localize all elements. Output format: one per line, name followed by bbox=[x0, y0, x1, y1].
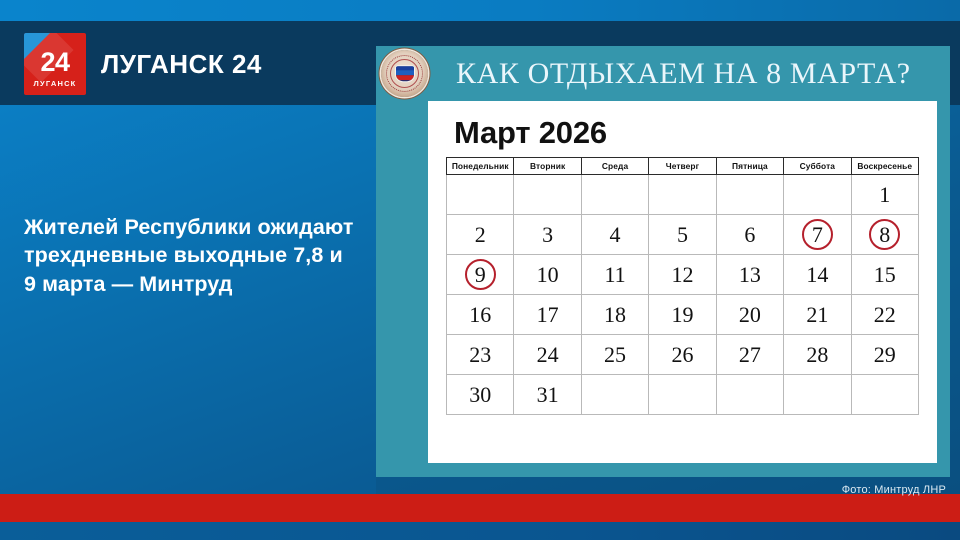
calendar-day-cell: 29 bbox=[851, 335, 918, 375]
calendar-day-cell: 5 bbox=[649, 215, 716, 255]
calendar-table: ПонедельникВторникСредаЧетвергПятницаСуб… bbox=[446, 157, 919, 415]
calendar-day-highlight: 9 bbox=[465, 259, 496, 290]
bottom-blue-strip bbox=[0, 522, 960, 540]
calendar-panel: КАК ОТДЫХАЕМ НА 8 МАРТА? Март 2026 Понед… bbox=[376, 46, 950, 477]
calendar-card: Март 2026 ПонедельникВторникСредаЧетверг… bbox=[428, 101, 937, 463]
calendar-day-cell: 9 bbox=[447, 255, 514, 295]
calendar-day-cell: 1 bbox=[851, 175, 918, 215]
calendar-day-cell: 27 bbox=[716, 335, 783, 375]
calendar-day-cell: 11 bbox=[581, 255, 648, 295]
calendar-day-highlight: 7 bbox=[802, 219, 833, 250]
calendar-week-row: 3031 bbox=[447, 375, 919, 415]
calendar-day-cell: 24 bbox=[514, 335, 581, 375]
calendar-empty-cell bbox=[784, 375, 851, 415]
emblem-flag-shield-icon bbox=[396, 66, 414, 81]
red-accent-bar bbox=[0, 494, 960, 522]
calendar-empty-cell bbox=[784, 175, 851, 215]
logo-mark-icon: 24 ЛУГАНСК bbox=[24, 33, 86, 95]
calendar-day-cell: 13 bbox=[716, 255, 783, 295]
logo-number: 24 bbox=[40, 49, 69, 76]
calendar-day-cell: 28 bbox=[784, 335, 851, 375]
calendar-empty-cell bbox=[716, 375, 783, 415]
calendar-day-cell: 12 bbox=[649, 255, 716, 295]
calendar-week-row: 23242526272829 bbox=[447, 335, 919, 375]
calendar-day-cell: 16 bbox=[447, 295, 514, 335]
calendar-month-title: Март 2026 bbox=[428, 101, 937, 157]
calendar-day-cell: 8 bbox=[851, 215, 918, 255]
calendar-empty-cell bbox=[581, 375, 648, 415]
calendar-body: 1234567891011121314151617181920212223242… bbox=[447, 175, 919, 415]
calendar-empty-cell bbox=[514, 175, 581, 215]
calendar-weekday-1: Вторник bbox=[514, 158, 581, 175]
calendar-day-cell: 25 bbox=[581, 335, 648, 375]
calendar-empty-cell bbox=[851, 375, 918, 415]
calendar-table-wrap: ПонедельникВторникСредаЧетвергПятницаСуб… bbox=[428, 157, 937, 415]
calendar-weekday-0: Понедельник bbox=[447, 158, 514, 175]
calendar-day-cell: 18 bbox=[581, 295, 648, 335]
calendar-day-cell: 26 bbox=[649, 335, 716, 375]
calendar-day-cell: 3 bbox=[514, 215, 581, 255]
lnr-ministry-emblem-icon bbox=[381, 50, 428, 97]
calendar-day-cell: 31 bbox=[514, 375, 581, 415]
calendar-day-cell: 22 bbox=[851, 295, 918, 335]
calendar-empty-cell bbox=[447, 175, 514, 215]
calendar-day-cell: 14 bbox=[784, 255, 851, 295]
calendar-weekday-6: Воскресенье bbox=[851, 158, 918, 175]
calendar-week-row: 1 bbox=[447, 175, 919, 215]
calendar-day-cell: 17 bbox=[514, 295, 581, 335]
headline-text: Жителей Республики ожидают трехдневные в… bbox=[24, 213, 354, 298]
calendar-day-cell: 15 bbox=[851, 255, 918, 295]
panel-title: КАК ОТДЫХАЕМ НА 8 МАРТА? bbox=[456, 57, 911, 91]
calendar-empty-cell bbox=[649, 375, 716, 415]
photo-credit: Фото: Минтруд ЛНР bbox=[842, 484, 946, 496]
calendar-day-cell: 30 bbox=[447, 375, 514, 415]
logo-subtext: ЛУГАНСК bbox=[34, 79, 77, 88]
calendar-week-row: 2345678 bbox=[447, 215, 919, 255]
calendar-day-highlight: 8 bbox=[869, 219, 900, 250]
calendar-weekday-header: ПонедельникВторникСредаЧетвергПятницаСуб… bbox=[447, 158, 919, 175]
calendar-weekday-2: Среда bbox=[581, 158, 648, 175]
calendar-weekday-5: Суббота bbox=[784, 158, 851, 175]
channel-name: ЛУГАНСК 24 bbox=[101, 49, 262, 80]
calendar-day-cell: 19 bbox=[649, 295, 716, 335]
calendar-day-cell: 23 bbox=[447, 335, 514, 375]
top-blue-strip bbox=[0, 0, 960, 21]
calendar-week-row: 9101112131415 bbox=[447, 255, 919, 295]
broadcast-slide: 24 ЛУГАНСК ЛУГАНСК 24 Жителей Республики… bbox=[0, 0, 960, 540]
calendar-week-row: 16171819202122 bbox=[447, 295, 919, 335]
calendar-day-cell: 10 bbox=[514, 255, 581, 295]
calendar-empty-cell bbox=[649, 175, 716, 215]
calendar-weekday-3: Четверг bbox=[649, 158, 716, 175]
calendar-day-cell: 6 bbox=[716, 215, 783, 255]
panel-header: КАК ОТДЫХАЕМ НА 8 МАРТА? bbox=[376, 46, 950, 101]
calendar-weekday-4: Пятница bbox=[716, 158, 783, 175]
left-content-background bbox=[0, 105, 376, 494]
calendar-empty-cell bbox=[716, 175, 783, 215]
calendar-day-cell: 20 bbox=[716, 295, 783, 335]
calendar-day-cell: 2 bbox=[447, 215, 514, 255]
calendar-day-cell: 4 bbox=[581, 215, 648, 255]
calendar-empty-cell bbox=[581, 175, 648, 215]
channel-logo: 24 ЛУГАНСК ЛУГАНСК 24 bbox=[24, 33, 262, 95]
calendar-day-cell: 21 bbox=[784, 295, 851, 335]
calendar-day-cell: 7 bbox=[784, 215, 851, 255]
